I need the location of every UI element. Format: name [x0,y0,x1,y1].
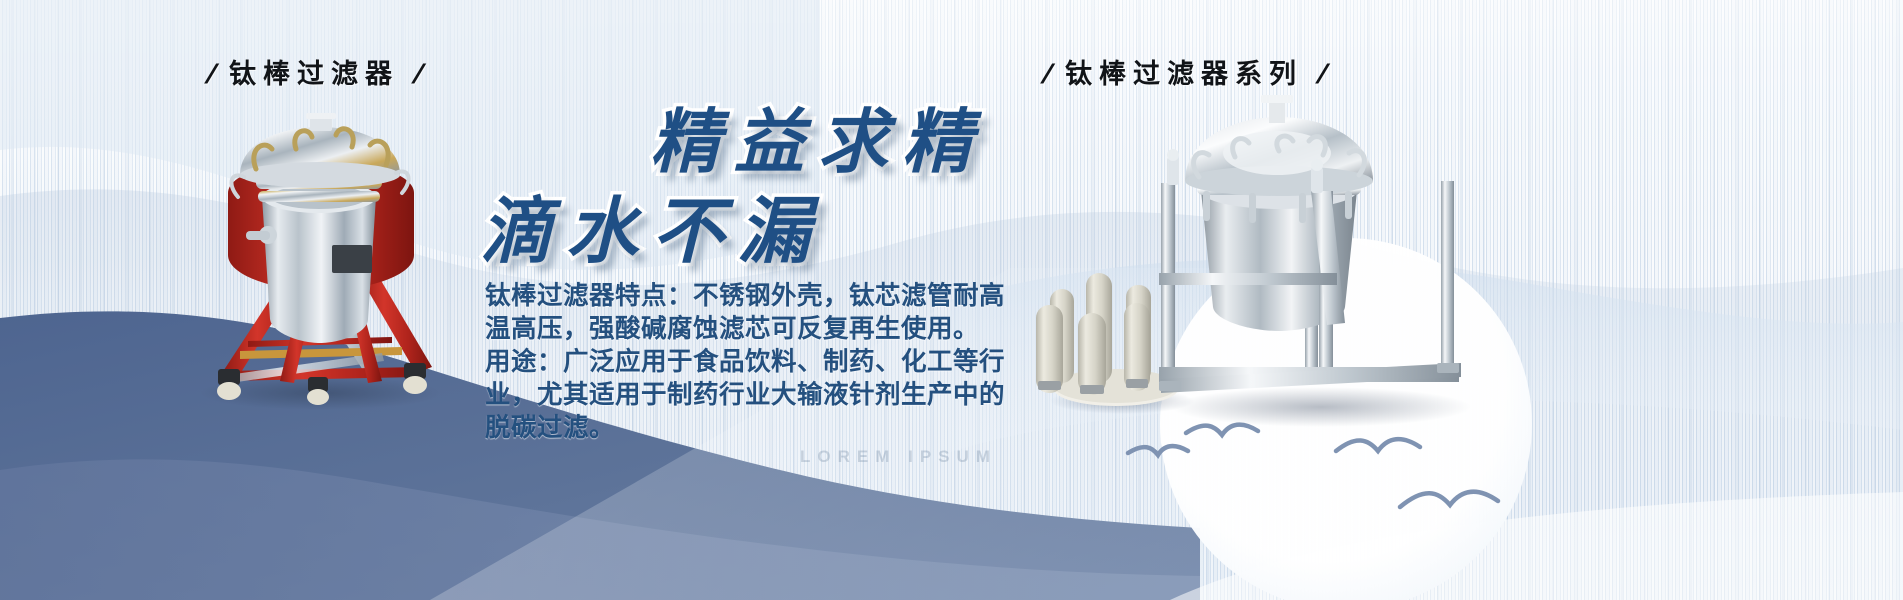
left-section-label: / 钛棒过滤器 / [207,52,421,91]
product-banner: / 钛棒过滤器 / / 钛棒过滤器系列 / 精益求精 滴水不漏 钛棒过滤器特点：… [0,0,1903,600]
description-line-4: 业，尤其适用于制药行业大输液针剂生产中的 [485,379,1005,412]
description-line-5: 脱碳过滤。 [485,412,1005,445]
left-section-label-text: 钛棒过滤器 [229,59,399,89]
right-section-label-text: 钛棒过滤器系列 [1065,59,1303,89]
description-line-1: 钛棒过滤器特点：不锈钢外壳，钛芯滤管耐高 [485,280,1005,313]
seagull-silhouettes [1100,415,1660,525]
right-section-label: / 钛棒过滤器系列 / [1043,52,1325,91]
product-description: 钛棒过滤器特点：不锈钢外壳，钛芯滤管耐高 温高压，强酸碱腐蚀滤芯可反复再生使用。… [485,280,1005,445]
headline-line-2: 滴水不漏 [480,172,824,277]
watermark-text: LOREM IPSUM [800,447,997,467]
left-product-image [170,105,460,415]
description-line-2: 温高压，强酸碱腐蚀滤芯可反复再生使用。 [485,313,1005,346]
description-line-3: 用途：广泛应用于食品饮料、制药、化工等行 [485,346,1005,379]
right-product-image [1145,95,1485,440]
